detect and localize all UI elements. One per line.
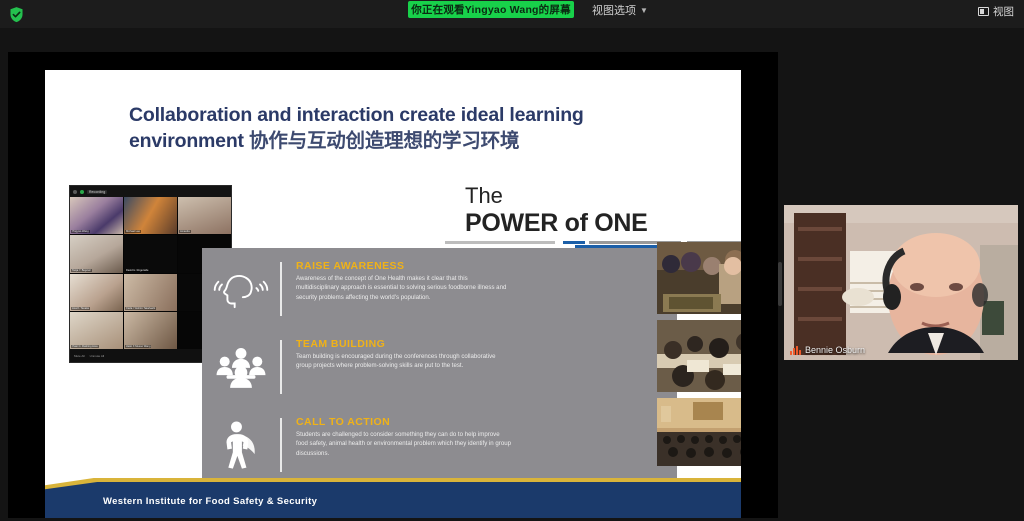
view-button[interactable]: 视图 bbox=[978, 3, 1014, 19]
zoom-top-bar: 你正在观看Yingyao Wang的屏幕 视图选项 ▼ 视图 bbox=[0, 0, 1024, 28]
head-with-soundwaves-icon bbox=[212, 260, 270, 318]
section-heading: RAISE AWARENESS bbox=[296, 260, 512, 272]
speaker-name: Bennie Osburn bbox=[805, 345, 865, 355]
participant-tile: Lisa K. Tanaka bbox=[70, 274, 123, 311]
photo-students-working-at-desks bbox=[657, 320, 741, 392]
section-heading: TEAM BUILDING bbox=[296, 338, 512, 350]
photo-group-at-exhibit-table bbox=[657, 242, 741, 314]
slide-content-panel: RAISE AWARENESS Awareness of the concept… bbox=[202, 248, 677, 480]
participant-name-label: Yingyao Wang bbox=[71, 230, 90, 233]
embedded-footer-item: Unmute All bbox=[90, 354, 105, 358]
layout-view-icon bbox=[978, 7, 989, 16]
section-body: Students are challenged to consider some… bbox=[296, 430, 512, 458]
speaker-name-badge: Bennie Osburn bbox=[790, 345, 865, 355]
embedded-zoom-titlebar: Recording bbox=[70, 186, 231, 197]
section-heading: CALL TO ACTION bbox=[296, 416, 512, 428]
speaker-video-frame bbox=[784, 205, 1018, 360]
green-shield-check-icon[interactable] bbox=[8, 6, 25, 23]
participant-tile: David H. Rogerside bbox=[124, 235, 177, 272]
participant-name-label: David H. Rogerside bbox=[125, 269, 150, 272]
view-options-dropdown[interactable]: 视图选项 ▼ bbox=[588, 1, 652, 18]
speaker-video-tile[interactable]: Bennie Osburn bbox=[784, 205, 1018, 360]
participant-tile: Amanda bbox=[178, 197, 231, 234]
slide-title-chinese: 协作与互动创造理想的学习环境 bbox=[249, 130, 519, 152]
participant-name-label: Tanja Y. Begovic bbox=[71, 269, 92, 272]
participant-name-label: Haito X Musoo Wang bbox=[125, 345, 151, 348]
presentation-slide: Collaboration and interaction create ide… bbox=[45, 70, 741, 518]
participant-tile: Haito X Musoo Wang bbox=[124, 312, 177, 349]
section-divider bbox=[280, 262, 282, 316]
slide-title: Collaboration and interaction create ide… bbox=[129, 103, 689, 155]
view-button-label: 视图 bbox=[993, 4, 1014, 19]
footer-text: Western Institute for Food Safety & Secu… bbox=[103, 496, 317, 507]
participant-tile: Carla / Yoshiro Takahashi bbox=[124, 274, 177, 311]
embedded-footer-item: Mute All bbox=[74, 354, 85, 358]
participant-tile: Michael Lee bbox=[124, 197, 177, 234]
headline-line-1: The bbox=[465, 184, 715, 209]
section-body: Team building is encouraged during the c… bbox=[296, 352, 512, 371]
audio-level-bars-icon bbox=[790, 346, 801, 355]
participant-name-label: Carla / Yoshiro Takahashi bbox=[125, 307, 156, 310]
photo-lecture-hall-audience bbox=[657, 398, 741, 466]
screen-share-banner-text: 你正在观看Yingyao Wang的屏幕 bbox=[411, 2, 571, 17]
participant-tile: Yuan C. Rushing Area bbox=[70, 312, 123, 349]
people-around-table-icon bbox=[212, 338, 270, 396]
participant-name-label: Michael Lee bbox=[125, 230, 141, 233]
chevron-down-icon: ▼ bbox=[640, 6, 648, 15]
participant-name-label: Amanda bbox=[179, 230, 191, 233]
slide-headline: The POWER of ONE bbox=[465, 184, 715, 237]
participant-tile: Tanja Y. Begovic bbox=[70, 235, 123, 272]
section-body: Awareness of the concept of One Health m… bbox=[296, 274, 512, 302]
section-divider bbox=[280, 340, 282, 394]
participant-tile: Yingyao Wang bbox=[70, 197, 123, 234]
participant-name-label: Lisa K. Tanaka bbox=[71, 307, 90, 310]
recording-badge: Recording bbox=[87, 190, 107, 194]
slide-footer-band: Western Institute for Food Safety & Secu… bbox=[45, 464, 741, 518]
window-dot-icon bbox=[80, 190, 84, 194]
window-dot-icon bbox=[73, 190, 77, 194]
shared-screen-stage[interactable]: Collaboration and interaction create ide… bbox=[8, 52, 778, 518]
stage-scroll-handle[interactable] bbox=[778, 262, 782, 306]
participant-name-label: Yuan C. Rushing Area bbox=[71, 345, 99, 348]
headline-line-2: POWER of ONE bbox=[465, 209, 715, 237]
view-options-label: 视图选项 bbox=[592, 2, 636, 18]
screen-share-banner: 你正在观看Yingyao Wang的屏幕 bbox=[408, 1, 574, 18]
